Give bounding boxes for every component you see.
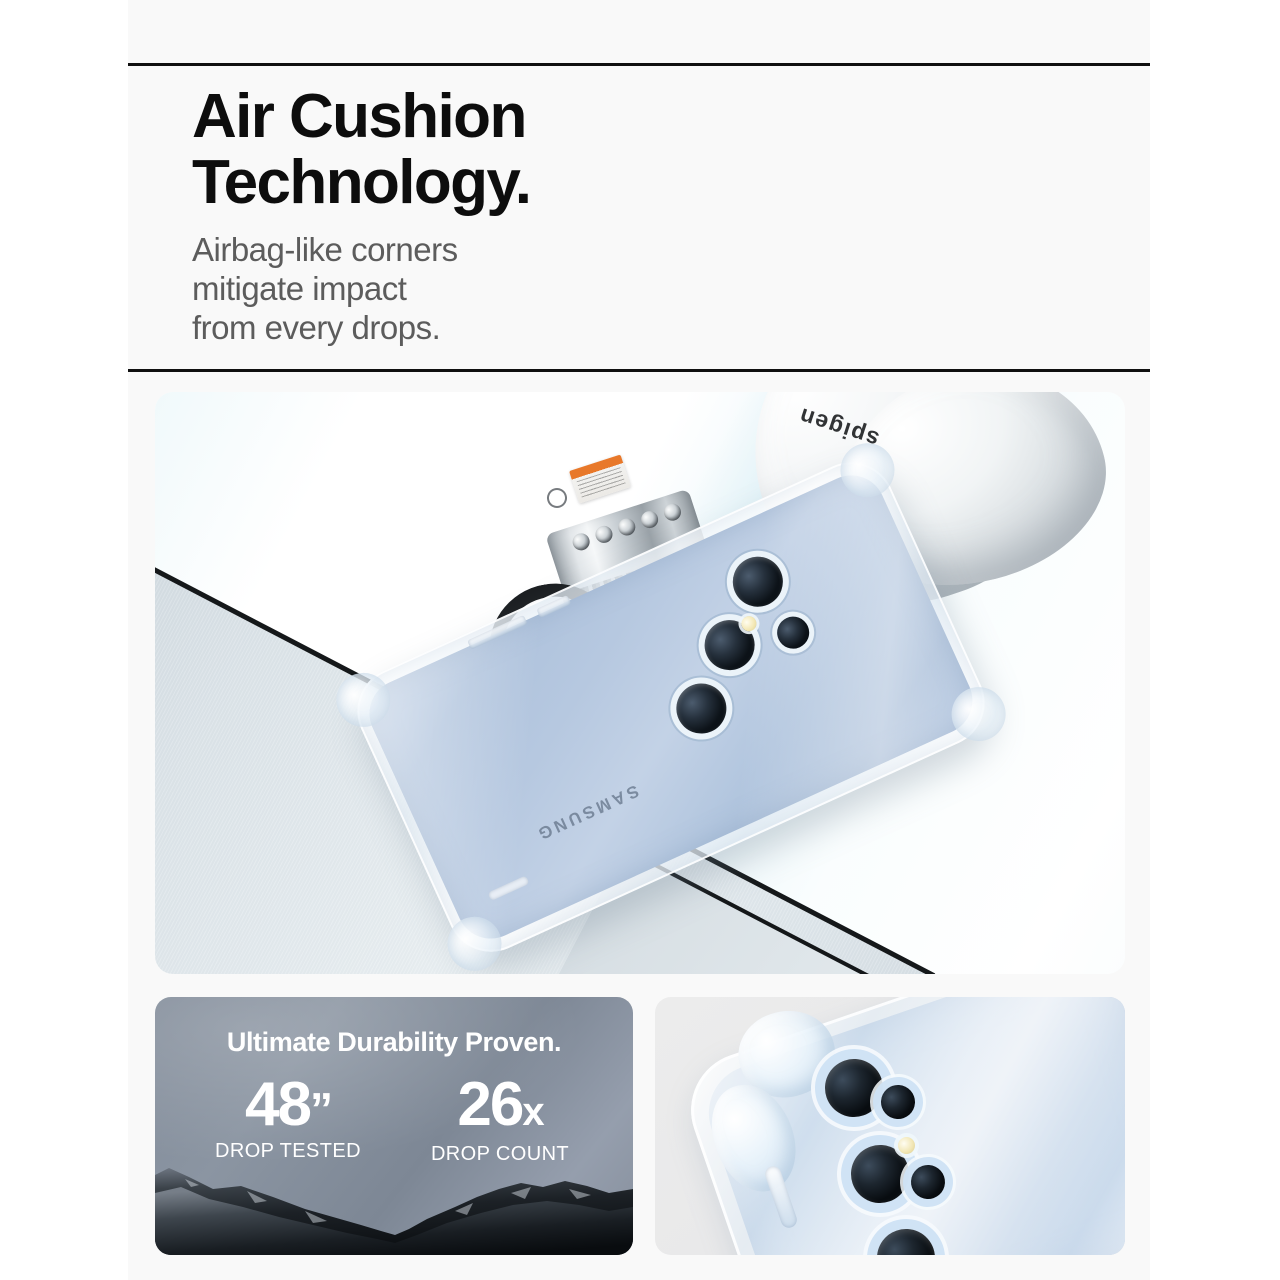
bolt-icon [639,509,660,530]
bolt-icon [616,516,637,537]
bolt-icon [570,531,591,552]
divider-top [128,63,1150,66]
divider-bottom [128,369,1150,372]
bolt-icon [662,501,683,522]
mountain-silhouette [155,1159,633,1255]
durability-stats-card: Ultimate Durability Proven. 48” DROP TES… [155,997,633,1255]
hero-drop-test-image: spigen SAMSUNG [155,392,1125,974]
stat-value: 26x [411,1072,589,1145]
stat-drop-height: 48” DROP TESTED [199,1072,377,1166]
product-feature-page: Air Cushion Technology. Airbag-like corn… [0,0,1280,1280]
stats-content: Ultimate Durability Proven. 48” DROP TES… [155,997,633,1166]
stat-unit: x [522,1090,542,1134]
stat-number: 48 [245,1070,310,1139]
page-subtitle: Airbag-like corners mitigate impact from… [192,230,892,347]
stat-number: 26 [457,1070,522,1139]
stat-value: 48” [199,1072,377,1142]
stat-drop-count: 26x DROP COUNT [411,1072,589,1166]
stats-title: Ultimate Durability Proven. [155,1027,633,1058]
case-corner-closeup-card [655,997,1125,1255]
bottom-card-row: Ultimate Durability Proven. 48” DROP TES… [155,997,1125,1255]
header-block: Air Cushion Technology. Airbag-like corn… [192,84,892,347]
stat-unit: ” [310,1083,331,1135]
bolt-icon [593,524,614,545]
stats-figures: 48” DROP TESTED 26x DROP COUNT [155,1072,633,1166]
page-title: Air Cushion Technology. [192,84,892,216]
